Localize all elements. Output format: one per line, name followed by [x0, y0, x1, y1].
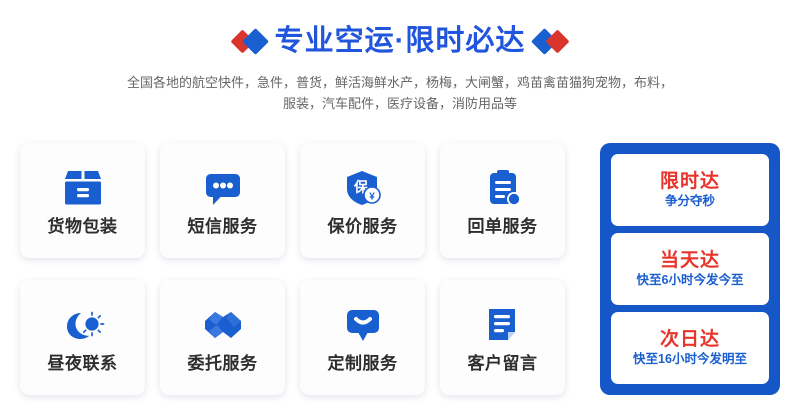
delivery-speed-panel: 限时达 争分夺秒 当天达 快至6小时今发今至 次日达 快至16小时今发明至: [600, 143, 780, 395]
promo-card-next-day-delivery[interactable]: 次日达 快至16小时今发明至: [611, 312, 769, 384]
service-card-customer-message[interactable]: 客户留言: [440, 280, 565, 395]
subtitle-line-2: 服装，汽车配件，医疗设备，消防用品等: [120, 93, 680, 114]
service-card-label: 货物包装: [48, 218, 118, 235]
page-header: 专业空运·限时必达 全国各地的航空快件，急件，普货，鲜活海鲜水产，杨梅，大闸蟹，…: [0, 0, 800, 114]
service-card-day-night-contact[interactable]: 昼夜联系: [20, 280, 145, 395]
diamond-decoration-left-icon: [234, 28, 265, 54]
promo-title: 次日达: [660, 330, 720, 349]
promo-subtitle: 争分夺秒: [665, 195, 715, 208]
subtitle-line-1: 全国各地的航空快件，急件，普货，鲜活海鲜水产，杨梅，大闸蟹，鸡苗禽苗猫狗宠物，布…: [120, 72, 680, 93]
service-card-insurance[interactable]: 保 ¥ 保价服务: [300, 143, 425, 258]
service-card-label: 回单服务: [468, 218, 538, 235]
service-card-label: 保价服务: [328, 218, 398, 235]
service-card-label: 客户留言: [468, 355, 538, 372]
promo-card-same-day-delivery[interactable]: 当天达 快至6小时今发今至: [611, 233, 769, 305]
title-row: 专业空运·限时必达: [0, 22, 800, 60]
svg-text:¥: ¥: [369, 192, 375, 203]
service-card-customization[interactable]: 定制服务: [300, 280, 425, 395]
service-card-label: 委托服务: [188, 355, 258, 372]
main-content: 货物包装 短信服务 保 ¥: [0, 143, 800, 398]
page-title: 专业空运·限时必达: [275, 27, 526, 56]
handshake-icon: [199, 303, 247, 347]
page-subtitle: 全国各地的航空快件，急件，普货，鲜活海鲜水产，杨梅，大闸蟹，鸡苗禽苗猫狗宠物，布…: [120, 72, 680, 114]
chat-bubble-dots-icon: [199, 166, 247, 210]
chat-bubble-chevron-icon: [339, 303, 387, 347]
moon-sun-icon: [59, 303, 107, 347]
promo-title: 限时达: [660, 172, 720, 191]
promo-subtitle: 快至16小时今发明至: [633, 353, 747, 366]
clipboard-receipt-icon: [479, 166, 527, 210]
service-card-consignment[interactable]: 委托服务: [160, 280, 285, 395]
service-card-label: 短信服务: [188, 218, 258, 235]
service-card-sms[interactable]: 短信服务: [160, 143, 285, 258]
promo-subtitle: 快至6小时今发今至: [637, 274, 744, 287]
service-card-receipt[interactable]: 回单服务: [440, 143, 565, 258]
service-card-label: 昼夜联系: [48, 355, 118, 372]
promo-title: 当天达: [660, 251, 720, 270]
shield-insurance-icon: 保 ¥: [339, 166, 387, 210]
service-cards-grid: 货物包装 短信服务 保 ¥: [20, 143, 600, 398]
diamond-decoration-right-icon: [535, 28, 566, 54]
box-icon: [59, 166, 107, 210]
service-card-cargo-packing[interactable]: 货物包装: [20, 143, 145, 258]
document-note-icon: [479, 303, 527, 347]
service-card-label: 定制服务: [328, 355, 398, 372]
diamond-blue-icon: [242, 28, 269, 55]
promo-card-timed-delivery[interactable]: 限时达 争分夺秒: [611, 154, 769, 226]
